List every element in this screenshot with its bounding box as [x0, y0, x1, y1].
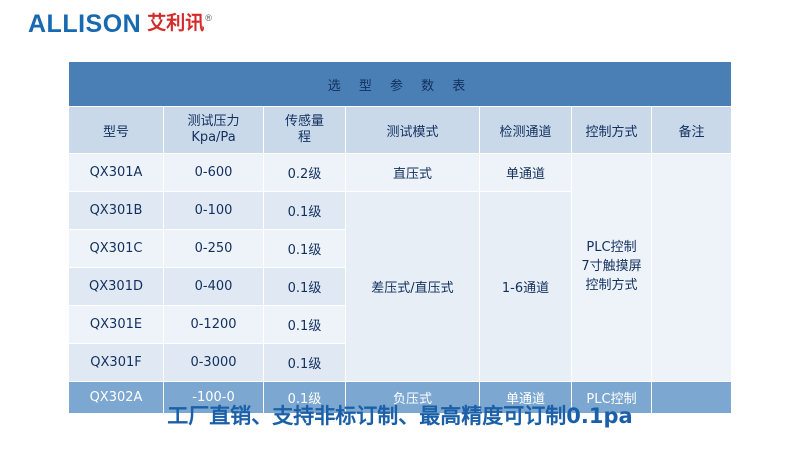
cell-pressure: 0-250 — [164, 230, 264, 268]
cell-pressure: 0-400 — [164, 268, 264, 306]
cell-channel-merged: 1-6通道 — [480, 192, 572, 382]
header-test-mode: 测试模式 — [346, 107, 480, 154]
brand-name-latin: ALLISON — [28, 12, 141, 37]
cell-range: 0.1级 — [264, 344, 346, 382]
cell-range: 0.1级 — [264, 192, 346, 230]
cell-model: QX301B — [69, 192, 164, 230]
table-title-row: 选 型 参 数 表 — [69, 62, 732, 107]
header-sensor-range-line1: 传感量 — [264, 114, 345, 130]
cell-mode: 直压式 — [346, 154, 480, 192]
spec-table-container: 选 型 参 数 表 型号 测试压力 Kpa/Pa 传感量 程 测试模式 检测通道… — [68, 61, 731, 414]
header-model: 型号 — [69, 107, 164, 154]
table-header-row: 型号 测试压力 Kpa/Pa 传感量 程 测试模式 检测通道 控制方式 备注 — [69, 107, 732, 154]
cell-remark-merged — [652, 154, 732, 382]
control-line-3: 控制方式 — [572, 277, 651, 296]
cell-channel: 单通道 — [480, 154, 572, 192]
cell-pressure: 0-1200 — [164, 306, 264, 344]
header-test-pressure: 测试压力 Kpa/Pa — [164, 107, 264, 154]
footer-slogan: 工厂直销、支持非标订制、最高精度可订制0.1pa — [0, 400, 800, 430]
header-detect-channel: 检测通道 — [480, 107, 572, 154]
header-test-pressure-line1: 测试压力 — [164, 114, 263, 130]
cell-model: QX301E — [69, 306, 164, 344]
header-control-method: 控制方式 — [572, 107, 652, 154]
header-sensor-range: 传感量 程 — [264, 107, 346, 154]
cell-model: QX301A — [69, 154, 164, 192]
control-line-1: PLC控制 — [572, 239, 651, 258]
cell-range: 0.1级 — [264, 306, 346, 344]
brand-logo: ALLISON 艾利讯 ® — [28, 12, 212, 37]
cell-pressure: 0-3000 — [164, 344, 264, 382]
cell-range: 0.2级 — [264, 154, 346, 192]
table-title: 选 型 参 数 表 — [69, 62, 732, 107]
cell-model: QX301D — [69, 268, 164, 306]
header-remark: 备注 — [652, 107, 732, 154]
header-sensor-range-line2: 程 — [264, 130, 345, 146]
brand-name-chinese: 艾利讯 — [147, 12, 204, 35]
cell-range: 0.1级 — [264, 268, 346, 306]
cell-mode-merged: 差压式/直压式 — [346, 192, 480, 382]
control-line-2: 7寸触摸屏 — [572, 258, 651, 277]
cell-model: QX301F — [69, 344, 164, 382]
cell-pressure: 0-100 — [164, 192, 264, 230]
header-test-pressure-line2: Kpa/Pa — [164, 130, 263, 146]
cell-control-merged: PLC控制 7寸触摸屏 控制方式 — [572, 154, 652, 382]
cell-pressure: 0-600 — [164, 154, 264, 192]
table-row: QX301A 0-600 0.2级 直压式 单通道 PLC控制 7寸触摸屏 控制… — [69, 154, 732, 192]
cell-range: 0.1级 — [264, 230, 346, 268]
cell-model: QX301C — [69, 230, 164, 268]
spec-table: 选 型 参 数 表 型号 测试压力 Kpa/Pa 传感量 程 测试模式 检测通道… — [68, 61, 732, 414]
registered-trademark-icon: ® — [205, 13, 212, 23]
